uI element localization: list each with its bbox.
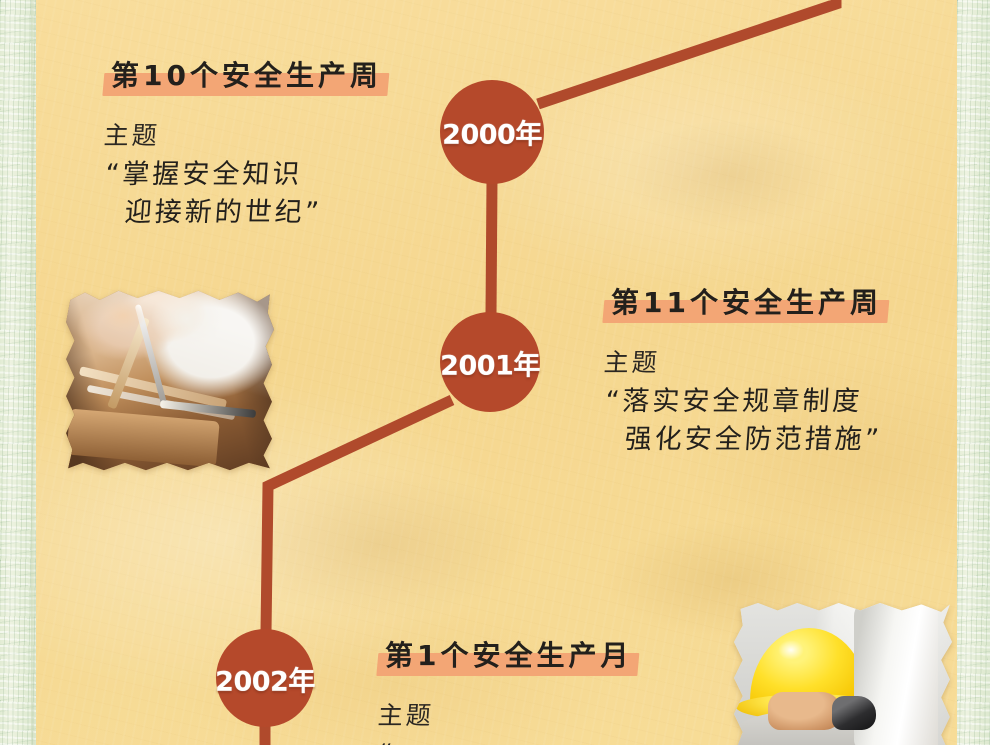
entry-week-11: 第11个安全生产周 主题 “落实安全规章制度 强化安全防范措施” xyxy=(604,285,889,460)
entry-sub-label-week-11: 主题 xyxy=(603,343,890,379)
timeline-segment-top xyxy=(538,0,836,104)
poster-canvas: 2000年 2001年 2002年 第10个安全生产周 主题 “掌握安全知识 迎… xyxy=(0,0,990,745)
paper-smudge xyxy=(620,120,840,230)
entry-theme-week-11: “落实安全规章制度 强化安全防范措施” xyxy=(601,383,891,460)
worker-glove xyxy=(832,696,876,730)
year-label-2002: 2002年 xyxy=(215,660,315,699)
photo-worker-hardhat xyxy=(734,600,952,745)
theme-line: “落实安全规章制度 xyxy=(604,383,892,421)
theme-line: 迎接新的世纪” xyxy=(101,194,389,232)
left-paper-border xyxy=(0,0,36,745)
entry-sub-label-month-1: 主题 xyxy=(377,696,641,732)
photo-drafting-tools xyxy=(64,287,274,472)
timeline-segment-2000-2001 xyxy=(491,180,492,314)
theme-line: “掌握安全知识 xyxy=(104,156,392,194)
entry-heading-text: 第1个安全生产月 xyxy=(385,638,632,675)
entry-heading-text: 第10个安全生产周 xyxy=(111,58,382,95)
entry-heading-week-10: 第10个安全生产周 xyxy=(102,58,390,96)
entry-week-10: 第10个安全生产周 主题 “掌握安全知识 迎接新的世纪” xyxy=(104,58,389,233)
paper-smudge xyxy=(230,470,530,620)
entry-heading-text: 第11个安全生产周 xyxy=(611,285,882,322)
right-paper-border xyxy=(957,0,990,745)
hard-hat-highlight xyxy=(778,640,804,660)
entry-heading-month-1: 第1个安全生产月 xyxy=(376,638,641,676)
worker-hand xyxy=(768,692,842,730)
entry-heading-week-11: 第11个安全生产周 xyxy=(602,285,890,323)
timeline-segment-2001-2002 xyxy=(266,400,452,632)
entry-month-1: 第1个安全生产月 主题 “ xyxy=(378,638,639,745)
year-label-2000: 2000年 xyxy=(442,113,542,152)
entry-sub-label-week-10: 主题 xyxy=(103,116,390,152)
theme-line: 强化安全防范措施” xyxy=(601,421,889,459)
year-label-2001: 2001年 xyxy=(440,344,540,383)
entry-theme-month-1: “ xyxy=(377,736,641,745)
entry-theme-week-10: “掌握安全知识 迎接新的世纪” xyxy=(101,156,391,233)
theme-line: “ xyxy=(377,736,641,745)
